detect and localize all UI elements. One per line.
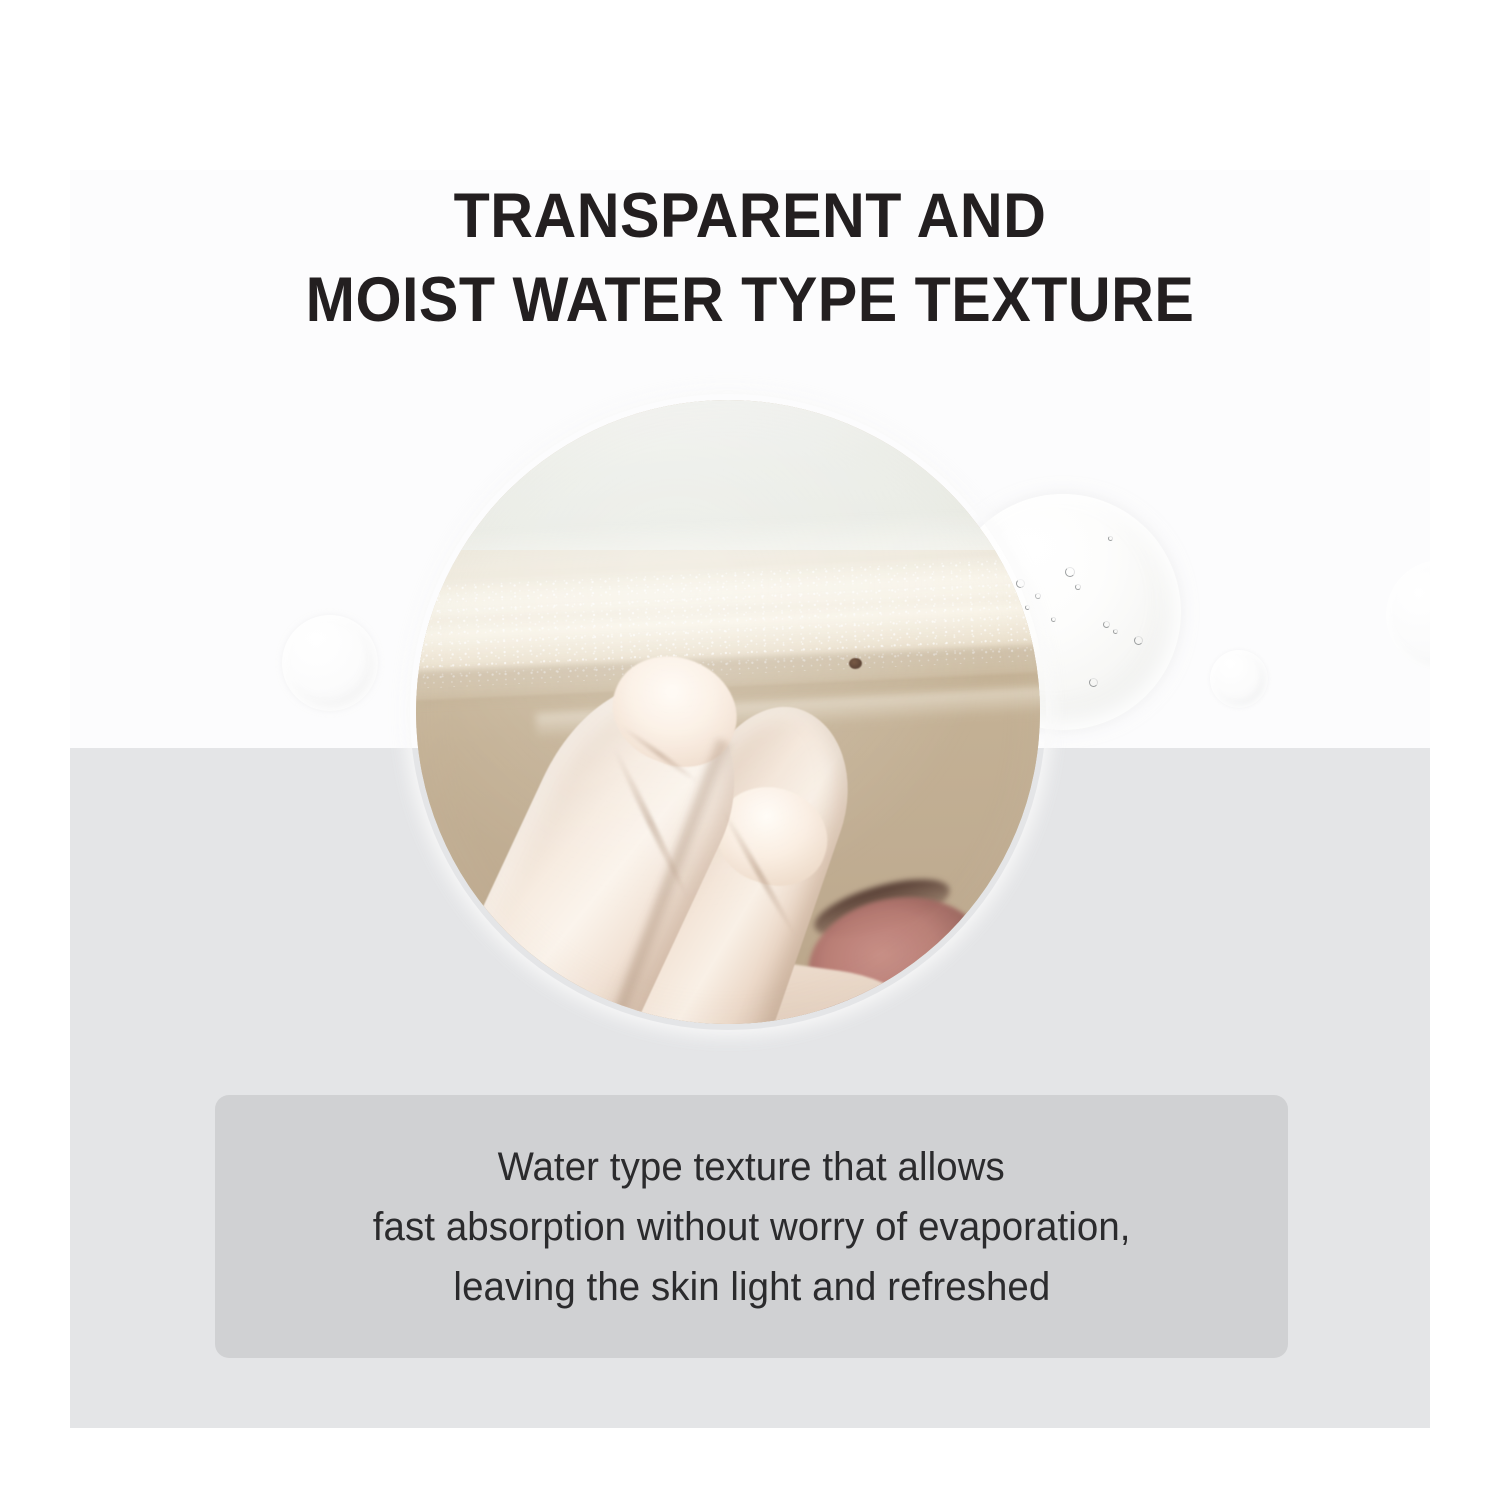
micro-bubble-icon <box>1089 678 1098 687</box>
page-title: TRANSPARENT AND MOIST WATER TYPE TEXTURE <box>70 170 1430 342</box>
page-title-line-1: TRANSPARENT AND <box>111 174 1389 258</box>
micro-bubble-icon <box>1108 536 1113 541</box>
micro-bubble-icon <box>1075 584 1081 590</box>
caption-line-1: Water type texture that allows <box>498 1137 1005 1197</box>
page-title-line-2: MOIST WATER TYPE TEXTURE <box>111 258 1389 342</box>
micro-bubble-icon <box>1134 636 1143 645</box>
content-panel: TRANSPARENT AND MOIST WATER TYPE TEXTURE <box>70 170 1430 1428</box>
micro-bubble-icon <box>1065 567 1075 577</box>
caption-box: Water type texture that allows fast abso… <box>215 1095 1288 1358</box>
texture-photo-circle <box>416 400 1040 1024</box>
photo-vignette <box>416 400 1040 1024</box>
micro-bubble-icon <box>1103 621 1110 628</box>
water-droplet-edge-icon <box>1386 560 1430 670</box>
caption-line-2: fast absorption without worry of evapora… <box>373 1197 1131 1257</box>
texture-photo <box>416 400 1040 1024</box>
water-droplet-small-left-icon <box>282 615 378 711</box>
micro-bubble-icon <box>1113 629 1118 634</box>
micro-bubble-icon <box>1051 617 1056 622</box>
water-droplet-small-right-icon <box>1210 650 1268 708</box>
caption-line-3: leaving the skin light and refreshed <box>453 1257 1050 1317</box>
product-detail-page: TRANSPARENT AND MOIST WATER TYPE TEXTURE <box>0 0 1500 1500</box>
